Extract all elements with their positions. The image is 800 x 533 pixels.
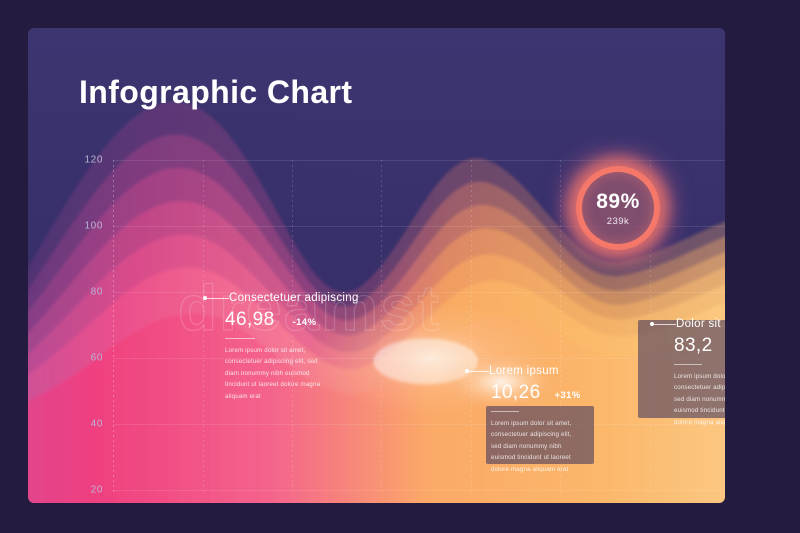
callout-delta: -14% bbox=[293, 317, 317, 328]
radial-progress-badge[interactable]: 89% 239k bbox=[555, 145, 681, 271]
callout-value: 46,98 bbox=[225, 309, 275, 331]
callout-leader: Lorem ipsum bbox=[465, 365, 620, 377]
gridline-20 bbox=[113, 490, 725, 491]
callout-title: Consectetuer adipiscing bbox=[229, 292, 359, 304]
y-axis-line bbox=[113, 160, 114, 494]
callout-title: Dolor sit amet bbox=[676, 318, 725, 330]
y-tick-label: 100 bbox=[85, 221, 104, 232]
callout-dolor-sit-amet[interactable]: Dolor sit amet 83,2 +57% Lorem ipsum dol… bbox=[650, 318, 725, 428]
callout-rule bbox=[491, 411, 519, 412]
callout-value-row: 83,2 +57% bbox=[650, 335, 725, 357]
infographic-chart-screenshot: 120 100 80 60 40 20 Jan Feb Mar Apr May … bbox=[0, 0, 800, 533]
y-tick-label: 80 bbox=[91, 287, 103, 298]
badge-percent-value: 89% bbox=[596, 190, 640, 214]
callout-leader: Dolor sit amet bbox=[650, 318, 725, 330]
gridline-40 bbox=[113, 424, 725, 425]
callout-title: Lorem ipsum bbox=[489, 365, 559, 377]
callout-leader-line bbox=[654, 324, 676, 325]
callout-leader-line bbox=[207, 298, 229, 299]
callout-lorem-ipsum[interactable]: Lorem ipsum 10,26 +31% Lorem ipsum dolor… bbox=[465, 365, 620, 475]
callout-leader: Consectetuer adipiscing bbox=[203, 292, 378, 304]
y-tick-label: 120 bbox=[85, 155, 104, 166]
callout-consectetuer-adipiscing[interactable]: Consectetuer adipiscing 46,98 -14% Lorem… bbox=[203, 292, 378, 402]
badge-text-group: 89% 239k bbox=[555, 145, 681, 271]
callout-body: Lorem ipsum dolor sit amet, consectetuer… bbox=[203, 345, 321, 402]
callout-rule bbox=[225, 338, 255, 339]
callout-value-row: 10,26 +31% bbox=[465, 382, 620, 404]
callout-body: Lorem ipsum dolor sit amet, consectetuer… bbox=[465, 418, 577, 475]
gridline-mar bbox=[381, 160, 382, 494]
callout-value-row: 46,98 -14% bbox=[203, 309, 378, 331]
callout-leader-line bbox=[469, 371, 489, 372]
y-tick-label: 60 bbox=[91, 353, 103, 364]
callout-rule bbox=[674, 364, 702, 365]
badge-sub-value: 239k bbox=[607, 216, 630, 227]
page-title: Infographic Chart bbox=[79, 74, 352, 111]
y-tick-label: 20 bbox=[91, 485, 103, 496]
chart-panel: 120 100 80 60 40 20 Jan Feb Mar Apr May … bbox=[28, 28, 725, 503]
callout-delta: +31% bbox=[555, 390, 581, 401]
callout-body: Lorem ipsum dolor sit amet, consectetuer… bbox=[650, 371, 725, 428]
callout-value: 10,26 bbox=[491, 382, 541, 404]
y-tick-label: 40 bbox=[91, 419, 103, 430]
callout-value: 83,2 bbox=[674, 335, 713, 357]
